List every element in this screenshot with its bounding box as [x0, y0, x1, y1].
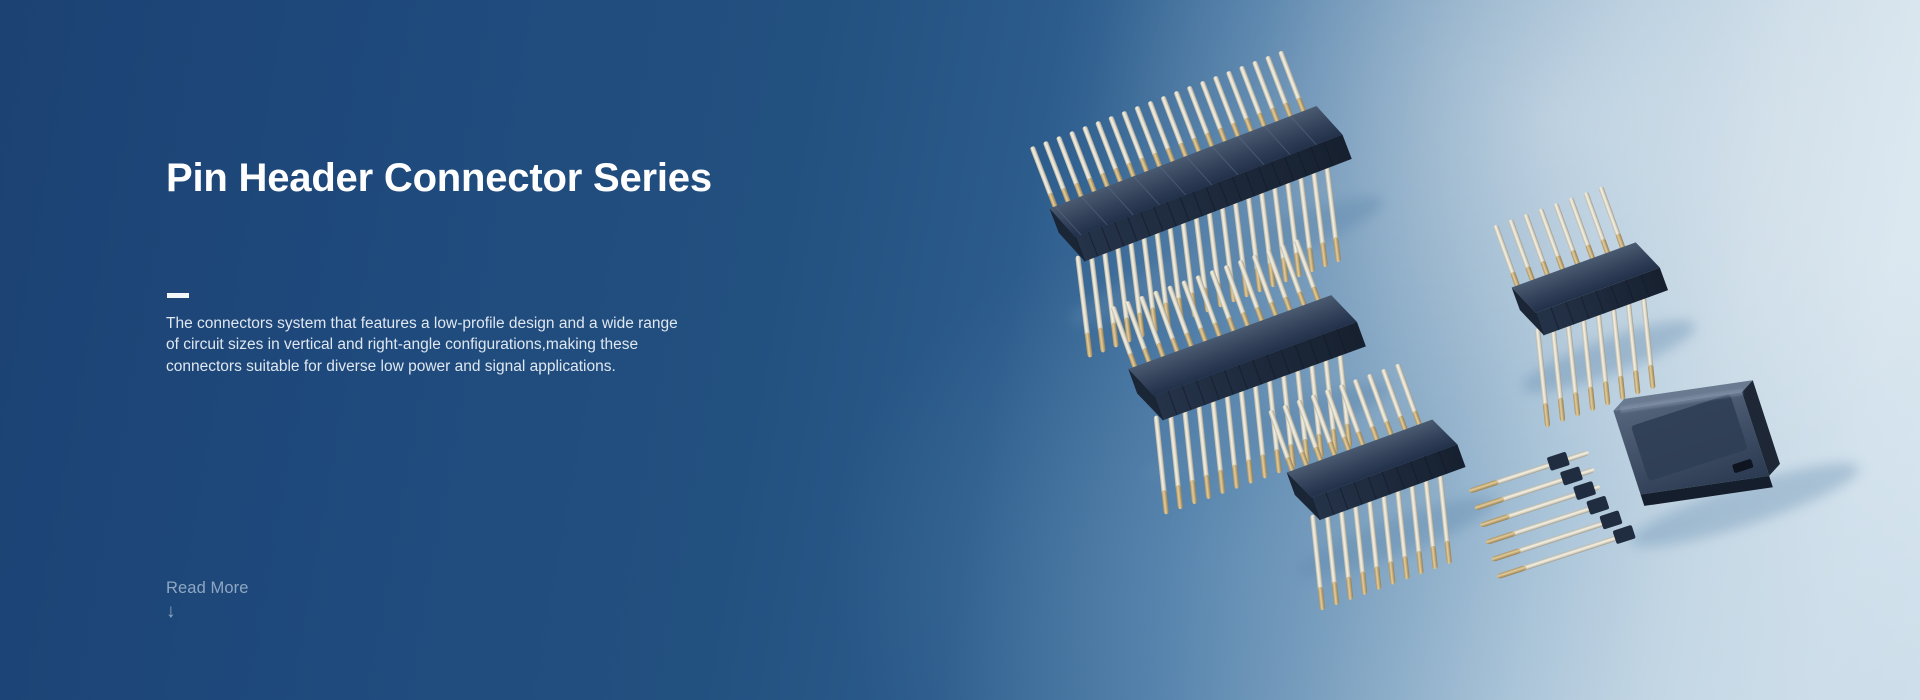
hero-copy-block: Pin Header Connector Series The connecto…: [166, 0, 726, 700]
title-divider-rule: [167, 293, 189, 298]
page-title: Pin Header Connector Series: [166, 155, 712, 201]
hero-banner: Pin Header Connector Series The connecto…: [0, 0, 1920, 700]
read-more-link[interactable]: Read More ↓: [166, 578, 326, 621]
hero-description-line-1: The connectors system that features a lo…: [166, 313, 704, 334]
hero-description-line-2: of circuit sizes in vertical and right-a…: [166, 334, 704, 355]
read-more-label: Read More: [166, 578, 326, 599]
product-photo: [1000, 0, 1920, 700]
hero-description-line-3: connectors suitable for diverse low powe…: [166, 356, 704, 377]
hero-description: The connectors system that features a lo…: [166, 313, 704, 377]
arrow-down-icon: ↓: [166, 602, 326, 621]
